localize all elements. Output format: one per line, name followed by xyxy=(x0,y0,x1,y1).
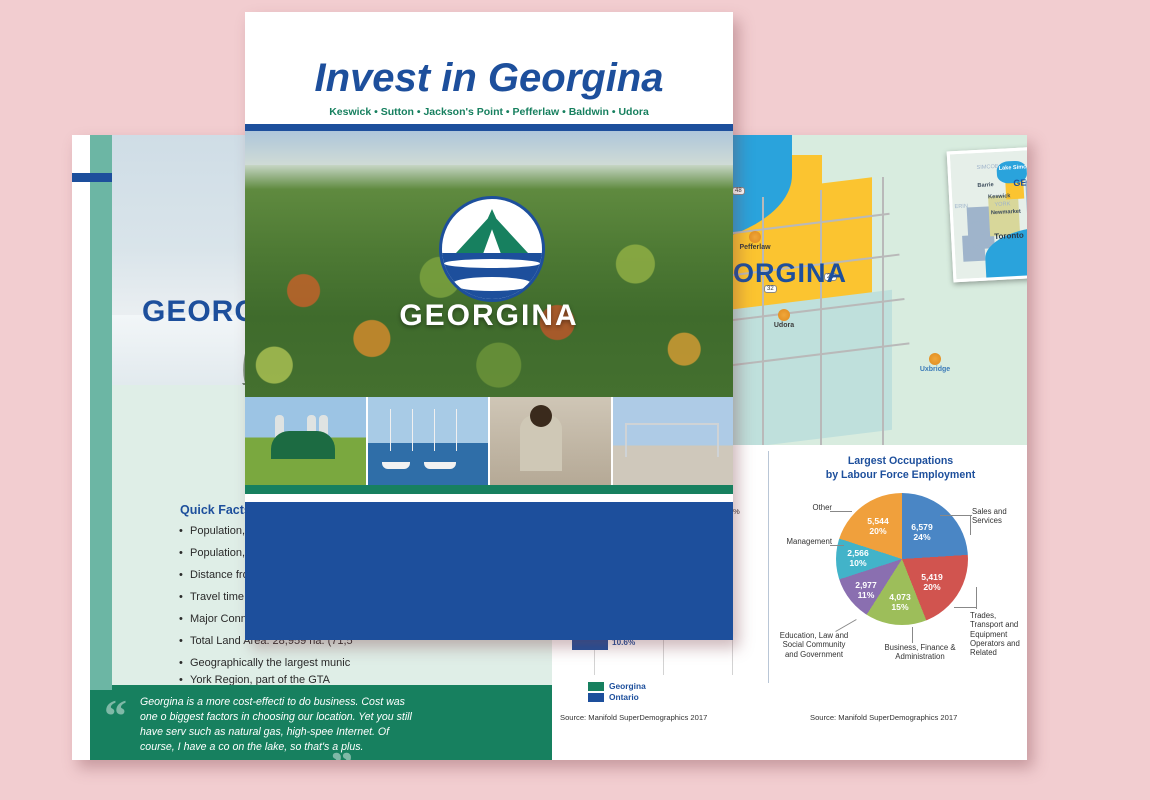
thumbnail-construction xyxy=(613,397,734,485)
inset-place-toronto: Toronto xyxy=(994,231,1024,242)
inset-place-barrie: Barrie xyxy=(977,182,993,189)
pie-label-other: 5,54420% xyxy=(856,517,900,537)
highway-shield: 48 xyxy=(732,187,745,195)
sailboat-mast xyxy=(434,409,436,451)
brochure-cover[interactable]: Invest in Georgina Keswick • Sutton • Ja… xyxy=(245,12,733,640)
bar-chart-legend: Georgina Ontario xyxy=(588,681,646,703)
map-town-uxbridge: Uxbridge xyxy=(912,353,958,373)
pie-callout-trades: Trades, Transport and Equipment Operator… xyxy=(970,611,1026,658)
logo-wave-2 xyxy=(452,277,532,291)
inset-region-label-simcoe: SIMCOE xyxy=(976,164,998,171)
leader-line xyxy=(970,515,971,535)
cover-header: Invest in Georgina Keswick • Sutton • Ja… xyxy=(245,12,733,116)
thumbnail-woodworker xyxy=(490,397,613,485)
thumbnail-marina xyxy=(368,397,491,485)
pie-label-education: 2,97711% xyxy=(844,581,888,601)
logo-wave-1 xyxy=(444,259,540,268)
fact-item: Geographically the largest munic xyxy=(190,656,542,671)
bar-ontario xyxy=(572,639,608,650)
pie-callout-business: Business, Finance & Administration xyxy=(880,643,960,662)
inset-region-label-york: YORK xyxy=(994,201,1010,208)
cover-hero-photo: GEORGINA xyxy=(245,131,733,397)
quote-text: Georgina is a more cost-effecti to do bu… xyxy=(140,695,420,755)
pie-label-sales: 6,57924% xyxy=(900,523,944,543)
pie-callout-education: Education, Law and Social Community and … xyxy=(778,631,850,659)
inset-region-label-halton: HALTON xyxy=(967,244,989,251)
thumbnail-farm xyxy=(245,397,368,485)
boat-hull xyxy=(382,462,410,469)
cover-subtitle: Keswick • Sutton • Jackson's Point • Pef… xyxy=(245,106,733,118)
sailboat-mast xyxy=(390,409,392,451)
pie-label-management: 2,56610% xyxy=(836,549,880,569)
inset-locator-map: GEORGINA Barrie Keswick Newmarket Toront… xyxy=(947,145,1027,283)
quote-open-icon: “ xyxy=(104,693,127,739)
map-road xyxy=(882,177,884,445)
town-dot-icon xyxy=(749,231,761,243)
legend-item-georgina: Georgina xyxy=(588,681,646,691)
pie-callout-sales: Sales and Services xyxy=(972,507,1024,526)
map-road xyxy=(820,190,822,445)
cover-green-rule xyxy=(245,485,733,494)
leader-line xyxy=(912,627,913,643)
sailboat-mast xyxy=(456,409,458,451)
leader-line xyxy=(835,619,856,632)
inset-region-label-peel: PEEL xyxy=(971,221,986,228)
barn-shape xyxy=(271,431,335,459)
page-left-white-edge xyxy=(72,135,90,690)
map-town-pefferlaw: Pefferlaw xyxy=(732,231,778,251)
cover-thumbnail-strip xyxy=(245,397,733,485)
inset-region-label-erin: ERIN xyxy=(954,203,968,210)
pie-callout-management: Management xyxy=(776,537,832,546)
town-dot-icon xyxy=(929,353,941,365)
cover-logo-wordmark: GEORGINA xyxy=(245,299,733,333)
sailboat-mast xyxy=(412,409,414,451)
pie-chart-title: Largest Occupationsby Labour Force Emplo… xyxy=(774,455,1027,483)
cover-blue-rule xyxy=(245,124,733,131)
map-town-udora: Udora xyxy=(764,309,804,329)
worker-head xyxy=(530,405,552,427)
inset-place-keswick: Keswick xyxy=(988,193,1011,200)
legend-swatch-georgina xyxy=(588,682,604,691)
georgina-logo-icon xyxy=(439,196,545,302)
inset-georgina-label: GEORGINA xyxy=(1013,176,1027,189)
quote-close-icon: ” xyxy=(330,745,353,760)
testimonial-quote-block: “ Georgina is a more cost-effecti to do … xyxy=(90,685,552,760)
boat-hull xyxy=(424,462,456,469)
leader-line xyxy=(976,587,977,609)
town-dot-icon xyxy=(778,309,790,321)
leader-line xyxy=(954,607,976,608)
occupations-pie-chart: Largest Occupationsby Labour Force Emplo… xyxy=(774,445,1027,745)
page-left-teal-stripe xyxy=(90,135,112,690)
bar-chart-source: Source: Manifold SuperDemographics 2017 xyxy=(560,713,707,722)
cover-title: Invest in Georgina xyxy=(245,56,733,101)
logo-tree-shape xyxy=(456,209,528,253)
page-left-blue-accent xyxy=(72,173,112,182)
poster-canvas: GEORGINA Quick Facts about Georgina: Pop… xyxy=(0,0,1150,800)
pie-label-trades: 5,41920% xyxy=(910,573,954,593)
steel-frame-shape xyxy=(625,423,719,457)
leader-line xyxy=(830,511,852,512)
leader-line xyxy=(830,545,844,546)
cover-blue-footer: ChooseGeorgina.ca xyxy=(245,502,733,640)
chart-divider xyxy=(768,451,769,683)
pie-callout-other: Other xyxy=(790,503,832,512)
pie-chart-source: Source: Manifold SuperDemographics 2017 xyxy=(810,713,957,722)
legend-item-ontario: Ontario xyxy=(588,692,646,702)
legend-swatch-ontario xyxy=(588,693,604,702)
leader-line xyxy=(940,515,972,516)
